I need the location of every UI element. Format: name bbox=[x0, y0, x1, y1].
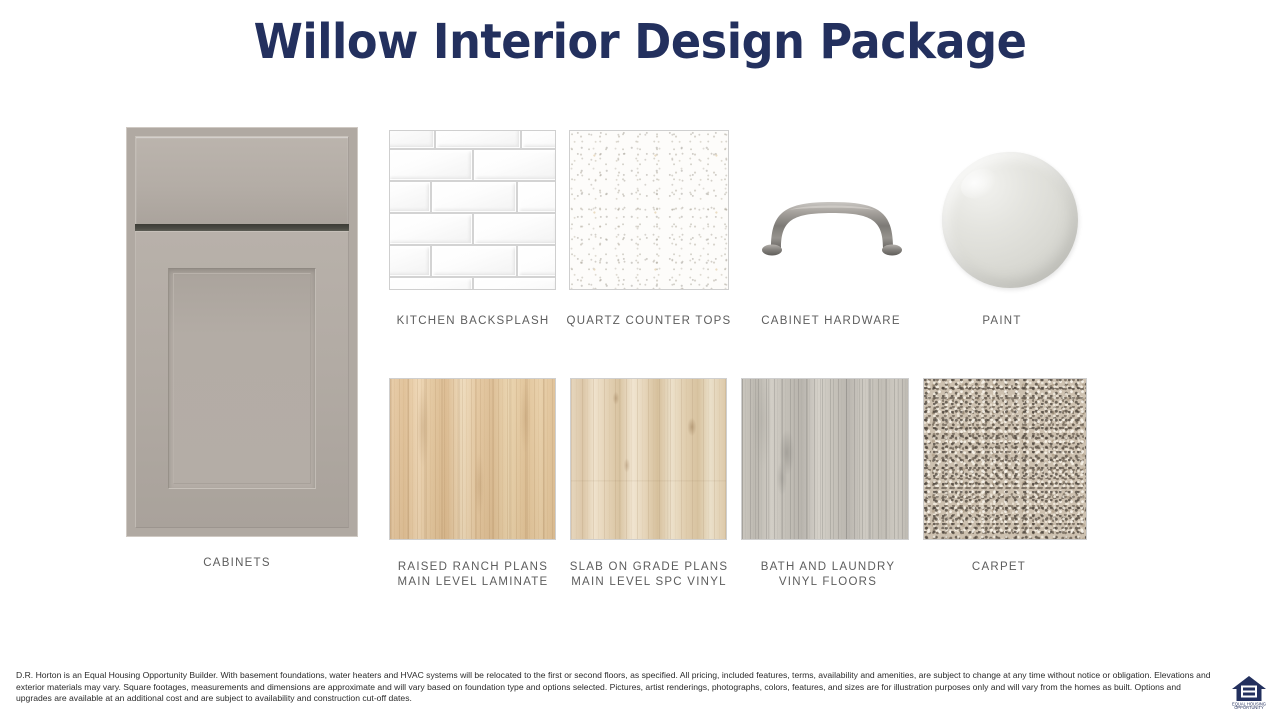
swatch-label-paint: PAINT bbox=[912, 314, 1092, 329]
swatch-paint[interactable] bbox=[942, 152, 1078, 288]
swatch-cabinets[interactable] bbox=[127, 128, 357, 536]
swatch-label-cabinets: CABINETS bbox=[137, 556, 337, 571]
swatch-raised-ranch-laminate[interactable] bbox=[390, 379, 555, 539]
swatch-label-kitchen-backsplash: KITCHEN BACKSPLASH bbox=[383, 314, 563, 329]
swatch-label-cabinet-hardware: CABINET HARDWARE bbox=[741, 314, 921, 329]
swatch-label-carpet: CARPET bbox=[909, 560, 1089, 575]
cabinet-reveal-gap bbox=[135, 224, 349, 231]
swatch-cabinet-hardware[interactable] bbox=[755, 188, 910, 262]
cabinet-pull-icon bbox=[755, 188, 910, 262]
swatch-kitchen-backsplash[interactable] bbox=[390, 131, 555, 289]
swatch-label-slab-on-grade-spc-vinyl: SLAB ON GRADE PLANS MAIN LEVEL SPC VINYL bbox=[559, 560, 739, 589]
legal-disclaimer: D.R. Horton is an Equal Housing Opportun… bbox=[16, 670, 1212, 705]
page-title: Willow Interior Design Package bbox=[45, 14, 1235, 70]
cabinet-door-front bbox=[135, 231, 349, 528]
equal-housing-opportunity-logo: EQUAL HOUSING OPPORTUNITY bbox=[1230, 672, 1268, 710]
swatch-bath-laundry-vinyl[interactable] bbox=[742, 379, 908, 539]
cabinet-drawer-front bbox=[135, 136, 349, 225]
svg-text:OPPORTUNITY: OPPORTUNITY bbox=[1234, 705, 1264, 710]
cabinet-recessed-panel bbox=[168, 268, 316, 489]
swatch-label-bath-laundry-vinyl: BATH AND LAUNDRY VINYL FLOORS bbox=[738, 560, 918, 589]
swatch-slab-on-grade-spc-vinyl[interactable] bbox=[571, 379, 726, 539]
swatch-label-raised-ranch-laminate: RAISED RANCH PLANS MAIN LEVEL LAMINATE bbox=[383, 560, 563, 589]
swatch-label-quartz-counter-tops: QUARTZ COUNTER TOPS bbox=[559, 314, 739, 329]
swatch-quartz-counter-tops[interactable] bbox=[570, 131, 728, 289]
swatch-carpet[interactable] bbox=[924, 379, 1086, 539]
